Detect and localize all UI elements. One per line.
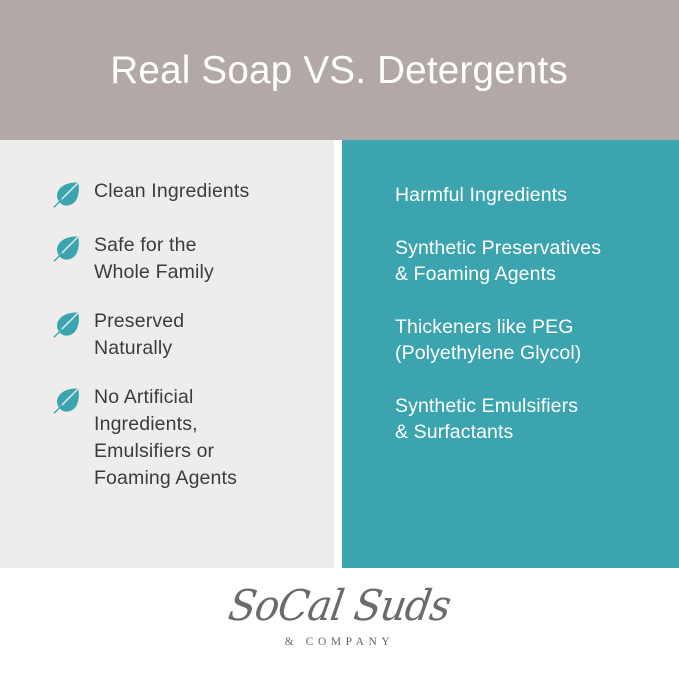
list-item: Preserved Naturally xyxy=(52,308,317,362)
real-soap-panel: Clean Ingredients Safe for the Whole Fam… xyxy=(0,140,334,568)
detergents-drawback-list: Harmful Ingredients Synthetic Preservati… xyxy=(395,182,675,472)
page-title: Real Soap VS. Detergents xyxy=(111,51,569,90)
list-item-label: Safe for the Whole Family xyxy=(94,232,214,286)
brand-name-subtitle: & Company xyxy=(285,636,395,648)
list-item-label: Synthetic Emulsifiers & Surfactants xyxy=(395,395,578,443)
list-item: Safe for the Whole Family xyxy=(52,232,317,286)
list-item-label: Thickeners like PEG (Polyethylene Glycol… xyxy=(395,316,581,364)
list-item: Clean Ingredients xyxy=(52,178,317,210)
leaf-icon xyxy=(52,234,82,264)
comparison-infographic: Real Soap VS. Detergents Clean Ingredien… xyxy=(0,0,679,679)
list-item-label: Clean Ingredients xyxy=(94,178,249,205)
list-item: Thickeners like PEG (Polyethylene Glycol… xyxy=(395,314,675,366)
list-item-label: Synthetic Preservatives & Foaming Agents xyxy=(395,237,601,285)
list-item-label: Harmful Ingredients xyxy=(395,184,567,206)
list-item: No Artificial Ingredients, Emulsifiers o… xyxy=(52,384,317,492)
brand-name-script: SoCal Suds xyxy=(225,582,453,631)
list-item-label: Preserved Naturally xyxy=(94,308,184,362)
leaf-icon xyxy=(52,180,82,210)
detergents-panel: Harmful Ingredients Synthetic Preservati… xyxy=(342,140,679,568)
list-item: Synthetic Preservatives & Foaming Agents xyxy=(395,235,675,287)
comparison-panels: Clean Ingredients Safe for the Whole Fam… xyxy=(0,140,679,568)
leaf-icon xyxy=(52,310,82,340)
list-item-label: No Artificial Ingredients, Emulsifiers o… xyxy=(94,384,237,492)
list-item: Synthetic Emulsifiers & Surfactants xyxy=(395,393,675,445)
list-item: Harmful Ingredients xyxy=(395,182,675,208)
header-band: Real Soap VS. Detergents xyxy=(0,0,679,140)
leaf-icon xyxy=(52,386,82,416)
brand-logo: SoCal Suds & Company xyxy=(0,583,679,679)
real-soap-benefit-list: Clean Ingredients Safe for the Whole Fam… xyxy=(52,178,317,514)
